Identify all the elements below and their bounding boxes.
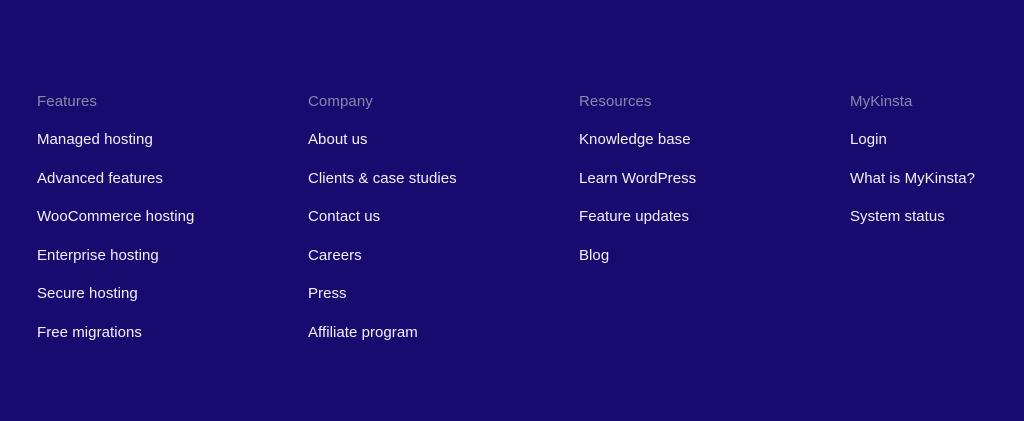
list-item: About us [308, 130, 579, 169]
footer-link-login[interactable]: Login [850, 130, 887, 150]
list-item: Knowledge base [579, 130, 850, 169]
list-item: What is MyKinsta? [850, 169, 975, 208]
footer-column-heading: Resources [579, 92, 850, 112]
footer-link-learn-wordpress[interactable]: Learn WordPress [579, 169, 696, 189]
list-item: Enterprise hosting [37, 246, 308, 285]
footer-link-clients-case-studies[interactable]: Clients & case studies [308, 169, 457, 189]
footer-column-heading: Features [37, 92, 308, 112]
footer-column-company: Company About us Clients & case studies … [308, 92, 579, 343]
footer-column-heading: Company [308, 92, 579, 112]
site-footer: Features Managed hosting Advanced featur… [0, 0, 1024, 421]
footer-link-careers[interactable]: Careers [308, 246, 362, 266]
footer-link-what-is-mykinsta[interactable]: What is MyKinsta? [850, 169, 975, 189]
list-item: Managed hosting [37, 130, 308, 169]
list-item: Affiliate program [308, 323, 579, 343]
footer-link-affiliate-program[interactable]: Affiliate program [308, 323, 418, 343]
footer-link-free-migrations[interactable]: Free migrations [37, 323, 142, 343]
footer-link-managed-hosting[interactable]: Managed hosting [37, 130, 153, 150]
list-item: Feature updates [579, 207, 850, 246]
list-item: Free migrations [37, 323, 308, 343]
footer-column-heading: MyKinsta [850, 92, 975, 112]
footer-link-enterprise-hosting[interactable]: Enterprise hosting [37, 246, 159, 266]
footer-link-woocommerce-hosting[interactable]: WooCommerce hosting [37, 207, 194, 227]
footer-link-list: Knowledge base Learn WordPress Feature u… [579, 130, 850, 266]
footer-link-knowledge-base[interactable]: Knowledge base [579, 130, 691, 150]
footer-column-features: Features Managed hosting Advanced featur… [37, 92, 308, 343]
footer-link-about-us[interactable]: About us [308, 130, 368, 150]
footer-link-list: Login What is MyKinsta? System status [850, 130, 975, 227]
footer-link-feature-updates[interactable]: Feature updates [579, 207, 689, 227]
footer-link-press[interactable]: Press [308, 284, 347, 304]
footer-navigation: Features Managed hosting Advanced featur… [37, 92, 987, 343]
footer-link-list: Managed hosting Advanced features WooCom… [37, 130, 308, 343]
list-item: Careers [308, 246, 579, 285]
list-item: Blog [579, 246, 850, 266]
list-item: WooCommerce hosting [37, 207, 308, 246]
footer-link-advanced-features[interactable]: Advanced features [37, 169, 163, 189]
list-item: Contact us [308, 207, 579, 246]
list-item: Login [850, 130, 975, 169]
list-item: Secure hosting [37, 284, 308, 323]
list-item: Advanced features [37, 169, 308, 208]
footer-link-blog[interactable]: Blog [579, 246, 609, 266]
footer-column-mykinsta: MyKinsta Login What is MyKinsta? System … [850, 92, 975, 227]
footer-column-resources: Resources Knowledge base Learn WordPress… [579, 92, 850, 266]
footer-link-system-status[interactable]: System status [850, 207, 945, 227]
footer-link-list: About us Clients & case studies Contact … [308, 130, 579, 343]
footer-link-secure-hosting[interactable]: Secure hosting [37, 284, 138, 304]
list-item: Clients & case studies [308, 169, 579, 208]
footer-link-contact-us[interactable]: Contact us [308, 207, 380, 227]
list-item: System status [850, 207, 975, 227]
list-item: Press [308, 284, 579, 323]
list-item: Learn WordPress [579, 169, 850, 208]
